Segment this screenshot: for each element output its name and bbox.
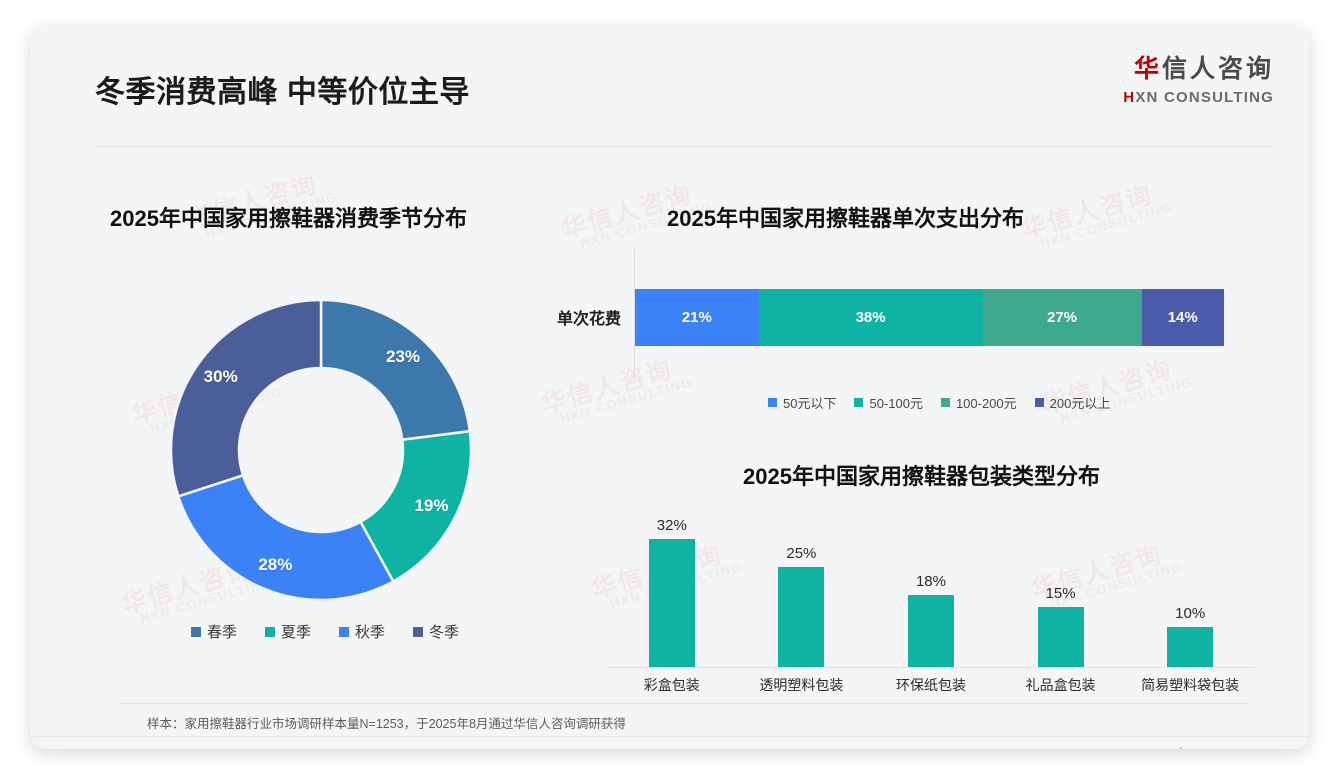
website-link[interactable]: www.hxrcon.com	[1150, 746, 1244, 749]
bar-baseline	[607, 667, 1255, 668]
legend-label: 100-200元	[956, 393, 1017, 412]
legend-item[interactable]: 秋季	[339, 621, 385, 642]
bar-column[interactable]: 25%	[740, 497, 862, 667]
bar-column[interactable]: 32%	[611, 497, 733, 667]
legend-label: 50-100元	[869, 393, 922, 412]
bar-value-label: 32%	[657, 517, 687, 534]
stacked-bar-segment[interactable]: 14%	[1142, 289, 1224, 346]
legend-label: 200元以上	[1050, 393, 1111, 412]
legend-label: 夏季	[281, 621, 311, 642]
legend-item[interactable]: 50元以下	[768, 393, 836, 412]
legend-swatch-icon	[854, 398, 863, 407]
bar-rect[interactable]	[908, 595, 954, 667]
bar-column[interactable]: 15%	[1000, 497, 1122, 667]
sample-footnote: 样本：家用擦鞋器行业市场调研样本量N=1253，于2025年8月通过华信人咨询调…	[147, 713, 626, 732]
legend-item[interactable]: 春季	[191, 621, 237, 642]
page-title: 冬季消费高峰 中等价位主导	[95, 67, 470, 111]
donut-chart-title: 2025年中国家用擦鞋器消费季节分布	[110, 201, 467, 233]
stacked-category-label: 单次花费	[537, 305, 621, 329]
bar-column[interactable]: 18%	[870, 497, 992, 667]
legend-item[interactable]: 冬季	[413, 621, 459, 642]
donut-slice[interactable]	[321, 300, 470, 440]
legend-item[interactable]: 100-200元	[941, 393, 1017, 412]
donut-slice[interactable]	[178, 475, 393, 600]
bar-value-label: 25%	[786, 545, 816, 562]
legend-swatch-icon	[191, 627, 201, 637]
slide-header: 冬季消费高峰 中等价位主导 华信人咨询 HXN CONSULTING	[31, 27, 1309, 123]
watermark: 华信人咨询 HXN CONSULTING	[1019, 177, 1175, 255]
donut-slice-value: 19%	[414, 496, 448, 516]
donut-slice-value: 23%	[386, 347, 420, 367]
bar-rect[interactable]	[778, 567, 824, 667]
bar-value-label: 10%	[1175, 605, 1205, 622]
stacked-legend: 50元以下50-100元100-200元200元以上	[768, 393, 1110, 412]
bar-rect[interactable]	[1167, 627, 1213, 667]
stacked-bar-chart: 单次花费 21%38%27%14%	[537, 249, 1237, 379]
stacked-bar-segment[interactable]: 21%	[635, 289, 759, 346]
bar-category-label: 简易塑料袋包装	[1129, 675, 1251, 695]
stacked-bar: 21%38%27%14%	[635, 289, 1224, 346]
donut-chart: 23%19%28%30%	[164, 293, 478, 607]
donut-slice-value: 30%	[204, 367, 238, 387]
bar-column[interactable]: 10%	[1129, 497, 1251, 667]
legend-swatch-icon	[413, 627, 423, 637]
logo-cn-rest: 信人咨询	[1162, 55, 1274, 83]
bar-category-label: 透明塑料包装	[740, 675, 862, 695]
legend-item[interactable]: 50-100元	[854, 393, 922, 412]
bar-category-label: 礼品盒包装	[1000, 675, 1122, 695]
legend-label: 春季	[207, 621, 237, 642]
logo-en-red: H	[1123, 89, 1135, 106]
logo-chinese: 华信人咨询	[1123, 57, 1274, 82]
watermark-cn: 华信人咨询	[1019, 177, 1171, 244]
stacked-bar-segment[interactable]: 27%	[983, 289, 1142, 346]
donut-legend: 春季夏季秋季冬季	[191, 621, 459, 642]
bar-value-label: 15%	[1046, 585, 1076, 602]
bar-value-label: 18%	[916, 573, 946, 590]
brand-logo: 华信人咨询 HXN CONSULTING	[1123, 57, 1274, 105]
column-chart: 32%25%18%15%10% 彩盒包装透明塑料包装环保纸包装礼品盒包装简易塑料…	[607, 497, 1255, 707]
legend-swatch-icon	[339, 627, 349, 637]
header-divider	[95, 146, 1274, 147]
slide-card: 华信人咨询 HXN CONSULTING 华信人咨询 HXN CONSULTIN…	[31, 27, 1309, 749]
bar-rect[interactable]	[649, 539, 695, 667]
legend-swatch-icon	[1035, 398, 1044, 407]
stacked-bar-segment[interactable]: 38%	[759, 289, 983, 346]
donut-svg	[164, 293, 478, 607]
legend-item[interactable]: 夏季	[265, 621, 311, 642]
copyright-text: ©2025.10 HXR华信人咨询	[104, 746, 251, 749]
bar-rect[interactable]	[1038, 607, 1084, 667]
legend-swatch-icon	[941, 398, 950, 407]
donut-slice[interactable]	[171, 300, 321, 496]
bar-category-label: 彩盒包装	[611, 675, 733, 695]
legend-label: 50元以下	[783, 393, 836, 412]
logo-en-rest: XN CONSULTING	[1135, 89, 1274, 106]
bar-chart-title: 2025年中国家用擦鞋器包装类型分布	[743, 459, 1100, 491]
slide-footer: ©2025.10 HXR华信人咨询 www.hxrcon.com	[31, 737, 1309, 749]
donut-slice-value: 28%	[258, 555, 292, 575]
legend-item[interactable]: 200元以上	[1035, 393, 1111, 412]
legend-swatch-icon	[768, 398, 777, 407]
logo-cn-red: 华	[1134, 55, 1162, 83]
legend-label: 秋季	[355, 621, 385, 642]
footnote-divider	[119, 703, 1249, 704]
watermark-en: HXN CONSULTING	[559, 375, 694, 426]
watermark-en: HXN CONSULTING	[1039, 200, 1174, 251]
stacked-chart-title: 2025年中国家用擦鞋器单次支出分布	[667, 201, 1024, 233]
legend-swatch-icon	[265, 627, 275, 637]
legend-label: 冬季	[429, 621, 459, 642]
bar-category-label: 环保纸包装	[870, 675, 992, 695]
logo-english: HXN CONSULTING	[1123, 90, 1274, 105]
